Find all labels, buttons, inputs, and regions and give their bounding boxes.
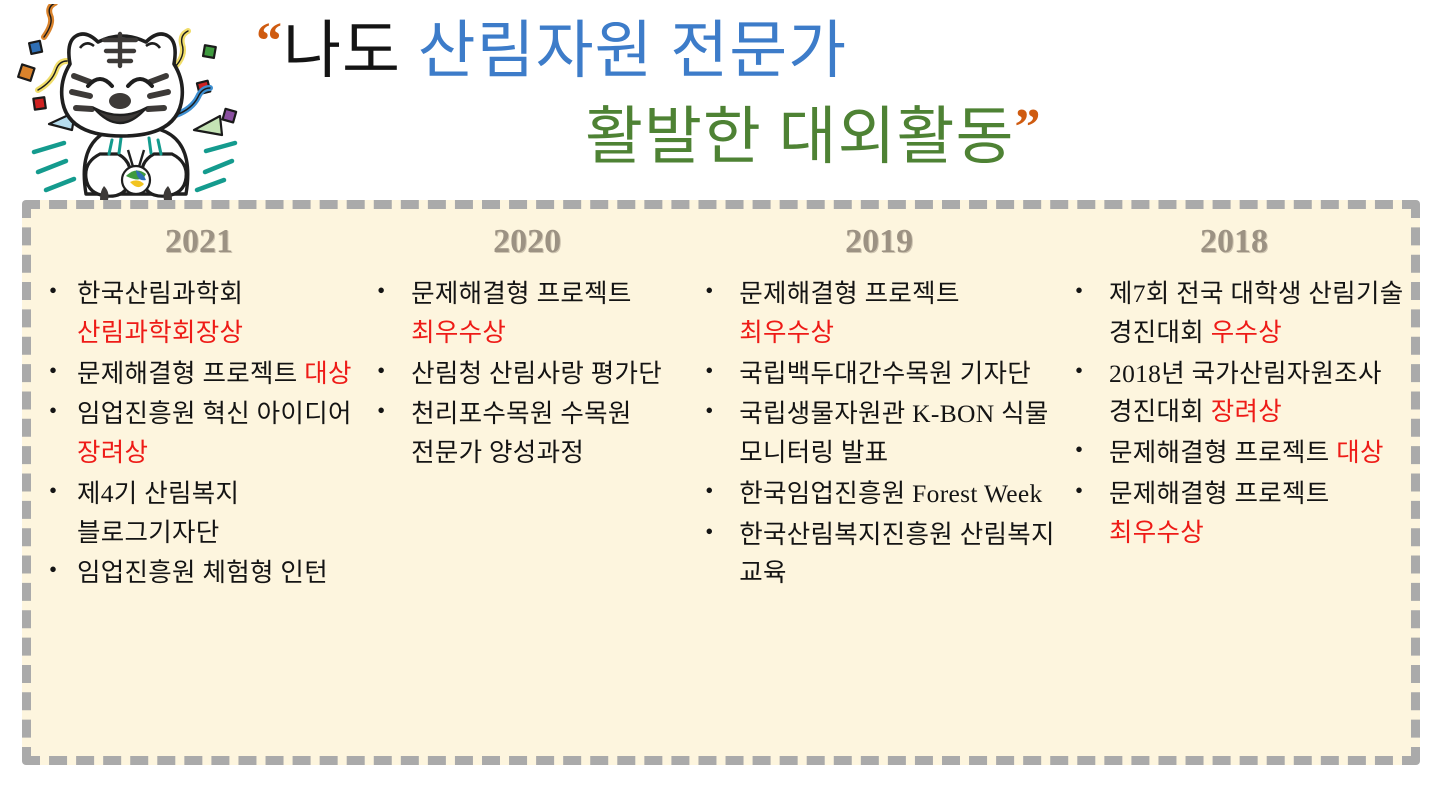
award-list-item: 제7회 전국 대학생 산림기술 경진대회 우수상 [1063,275,1405,353]
award-list-item: 문제해결형 프로젝트 최우수상 [693,275,1059,353]
award-list-item: 문제해결형 프로젝트 대상 [1063,434,1405,473]
header-zone: “나도 산림자원 전문가 활발한 대외활동” [0,0,1438,200]
title-part-forest-expert: 산림자원 전문가 [418,16,847,86]
award-text: 문제해결형 프로젝트 [77,359,304,388]
award-highlight: 장려상 [77,438,148,467]
award-list-item: 임업진흥원 혁신 아이디어 장려상 [37,395,361,473]
award-text: 한국임업진흥원 Forest Week [739,479,1042,508]
award-list-item: 문제해결형 프로젝트 최우수상 [365,275,689,353]
year-column-2019: 2019 문제해결형 프로젝트 최우수상국립백두대간수목원 기자단국립생물자원관… [691,223,1061,595]
title-line-1: “나도 산림자원 전문가 [256,20,847,83]
award-list-2020: 문제해결형 프로젝트 최우수상산림청 산림사랑 평가단천리포수목원 수목원 전문… [365,275,689,473]
award-text: 국립백두대간수목원 기자단 [739,359,1031,388]
title-block: “나도 산림자원 전문가 활발한 대외활동” [250,6,1430,201]
award-text: 제4기 산림복지 블로그기자단 [77,479,239,547]
awards-panel: 2021 한국산림과학회 산림과학회장상문제해결형 프로젝트 대상임업진흥원 혁… [22,200,1420,765]
year-column-2018: 2018 제7회 전국 대학생 산림기술 경진대회 우수상2018년 국가산림자… [1061,223,1407,554]
year-heading-2021: 2021 [37,223,361,261]
award-list-item: 2018년 국가산림자원조사 경진대회 장려상 [1063,355,1405,433]
award-text: 한국산림과학회 [77,279,243,308]
award-list-item: 천리포수목원 수목원 전문가 양성과정 [365,395,689,473]
award-text: 문제해결형 프로젝트 [1109,479,1330,508]
award-list-item: 제4기 산림복지 블로그기자단 [37,475,361,553]
award-highlight: 산림과학회장상 [77,318,243,347]
award-list-item: 문제해결형 프로젝트 대상 [37,355,361,394]
close-quote-icon: ” [1014,99,1041,156]
title-part-nado: 나도 [283,16,401,86]
year-heading-2020: 2020 [365,223,689,261]
award-text: 임업진흥원 혁신 아이디어 [77,399,352,428]
year-column-2020: 2020 문제해결형 프로젝트 최우수상산림청 산림사랑 평가단천리포수목원 수… [363,223,691,475]
award-text: 국립생물자원관 K-BON 식물 모니터링 발표 [739,399,1048,467]
award-highlight: 우수상 [1211,318,1282,347]
award-text: 산림청 산림사랑 평가단 [411,359,662,388]
award-text: 문제해결형 프로젝트 [739,279,960,308]
year-columns-container: 2021 한국산림과학회 산림과학회장상문제해결형 프로젝트 대상임업진흥원 혁… [31,209,1411,756]
award-text: 임업진흥원 체험형 인턴 [77,558,328,587]
award-list-item: 국립백두대간수목원 기자단 [693,355,1059,394]
award-list-item: 한국임업진흥원 Forest Week [693,475,1059,514]
award-text: 한국산림복지진흥원 산림복지 교육 [739,520,1055,588]
award-text: 문제해결형 프로젝트 [411,279,632,308]
award-list-2019: 문제해결형 프로젝트 최우수상국립백두대간수목원 기자단국립생물자원관 K-BO… [693,275,1059,593]
award-text: 문제해결형 프로젝트 [1109,438,1336,467]
award-text: 천리포수목원 수목원 전문가 양성과정 [411,399,632,467]
award-highlight: 장려상 [1211,397,1282,426]
award-highlight: 최우수상 [739,318,834,347]
award-highlight: 최우수상 [411,318,506,347]
award-list-item: 한국산림과학회 산림과학회장상 [37,275,361,353]
award-highlight: 대상 [1336,438,1384,467]
tiger-mascot-icon [8,4,258,204]
year-column-2021: 2021 한국산림과학회 산림과학회장상문제해결형 프로젝트 대상임업진흥원 혁… [35,223,363,595]
year-heading-2018: 2018 [1063,223,1405,261]
year-heading-2019: 2019 [699,223,1059,261]
award-list-2021: 한국산림과학회 산림과학회장상문제해결형 프로젝트 대상임업진흥원 혁신 아이디… [37,275,361,593]
title-part-activities: 활발한 대외활동 [585,102,1014,172]
award-list-item: 국립생물자원관 K-BON 식물 모니터링 발표 [693,395,1059,473]
award-list-item: 문제해결형 프로젝트 최우수상 [1063,475,1405,553]
award-list-item: 한국산림복지진흥원 산림복지 교육 [693,516,1059,594]
award-highlight: 대상 [304,359,352,388]
award-list-item: 임업진흥원 체험형 인턴 [37,554,361,593]
award-list-item: 산림청 산림사랑 평가단 [365,355,689,394]
award-list-2018: 제7회 전국 대학생 산림기술 경진대회 우수상2018년 국가산림자원조사 경… [1063,275,1405,552]
title-line-2: 활발한 대외활동” [585,106,1041,169]
award-highlight: 최우수상 [1109,518,1204,547]
open-quote-icon: “ [256,13,283,70]
